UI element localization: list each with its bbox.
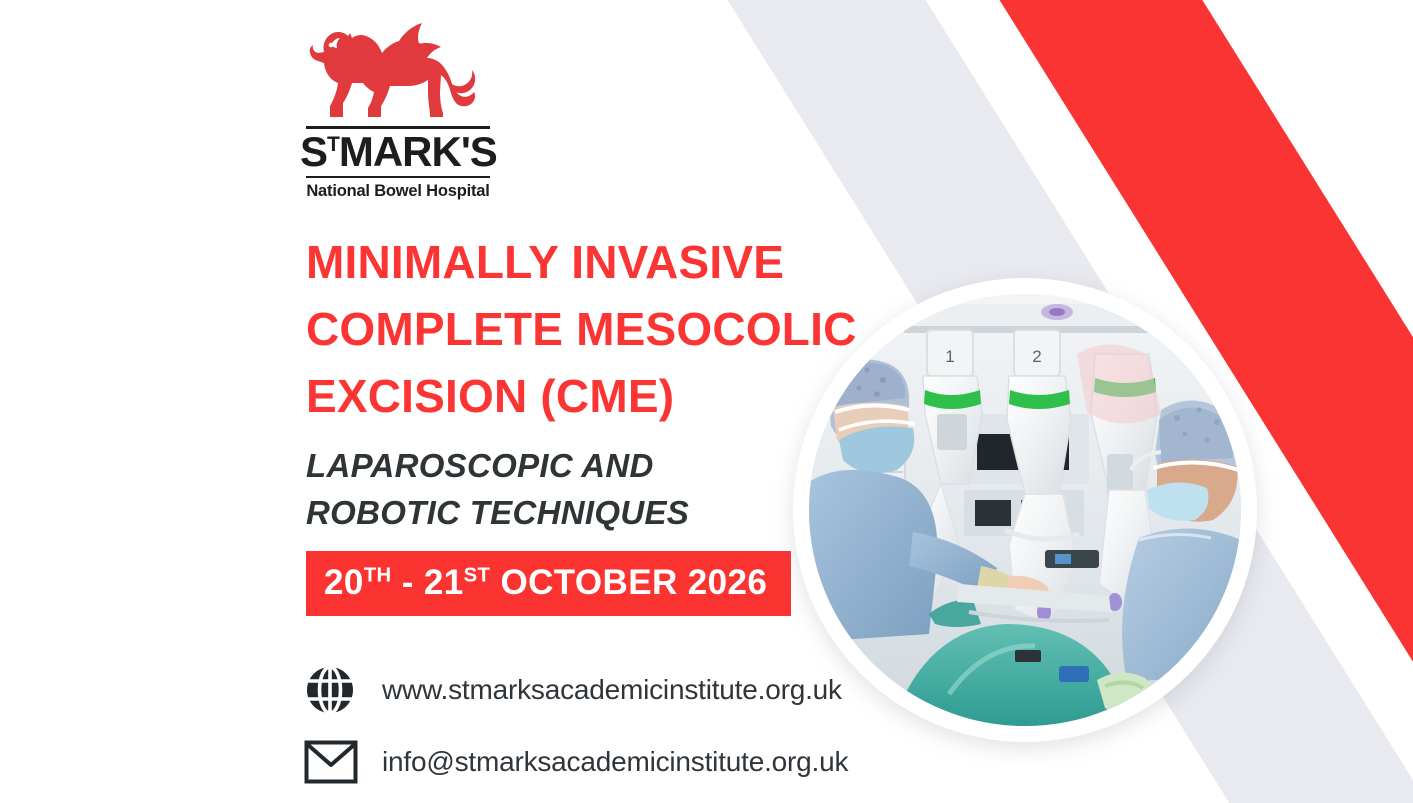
svg-text:1: 1 <box>945 347 954 366</box>
logo-rule-bottom <box>306 176 490 178</box>
date-separator: - <box>392 563 424 602</box>
title-line-1: MINIMALLY INVASIVE <box>306 229 926 296</box>
surgery-photo: 1 2 <box>809 294 1241 726</box>
logo-wordmark-s: S <box>300 128 327 175</box>
subtitle-line-1: LAPAROSCOPIC AND <box>306 442 866 489</box>
email-address[interactable]: info@stmarksacademicinstitute.org.uk <box>382 746 848 778</box>
contact-email[interactable]: info@stmarksacademicinstitute.org.uk <box>304 736 848 788</box>
date-day-to: 21 <box>424 563 464 602</box>
title-line-2: COMPLETE MESOCOLIC <box>306 296 926 363</box>
surgery-photo-circle: 1 2 <box>793 278 1257 742</box>
operating-theatre-illustration: 1 2 <box>809 294 1241 726</box>
subtitle-line-2: ROBOTIC TECHNIQUES <box>306 489 866 536</box>
envelope-icon <box>304 736 362 788</box>
stmarks-logo: STMARK'S National Bowel Hospital <box>300 14 496 201</box>
logo-tagline: National Bowel Hospital <box>300 182 496 201</box>
globe-icon <box>304 664 362 716</box>
event-date-banner: 20TH - 21ST OCTOBER 2026 <box>306 551 791 616</box>
event-poster: STMARK'S National Bowel Hospital MINIMAL… <box>0 0 1413 803</box>
logo-wordmark: STMARK'S <box>300 131 496 173</box>
svg-text:2: 2 <box>1032 347 1041 366</box>
website-url[interactable]: www.stmarksacademicinstitute.org.uk <box>382 674 842 706</box>
contact-website[interactable]: www.stmarksacademicinstitute.org.uk <box>304 664 842 716</box>
date-day-to-suffix: ST <box>464 564 491 586</box>
winged-lion-icon <box>300 14 496 124</box>
date-day-from: 20 <box>324 563 364 602</box>
date-month-year: OCTOBER 2026 <box>490 563 767 602</box>
logo-wordmark-marks: MARK'S <box>339 128 497 175</box>
date-day-from-suffix: TH <box>364 564 392 586</box>
page-subtitle: LAPAROSCOPIC AND ROBOTIC TECHNIQUES <box>306 442 866 536</box>
